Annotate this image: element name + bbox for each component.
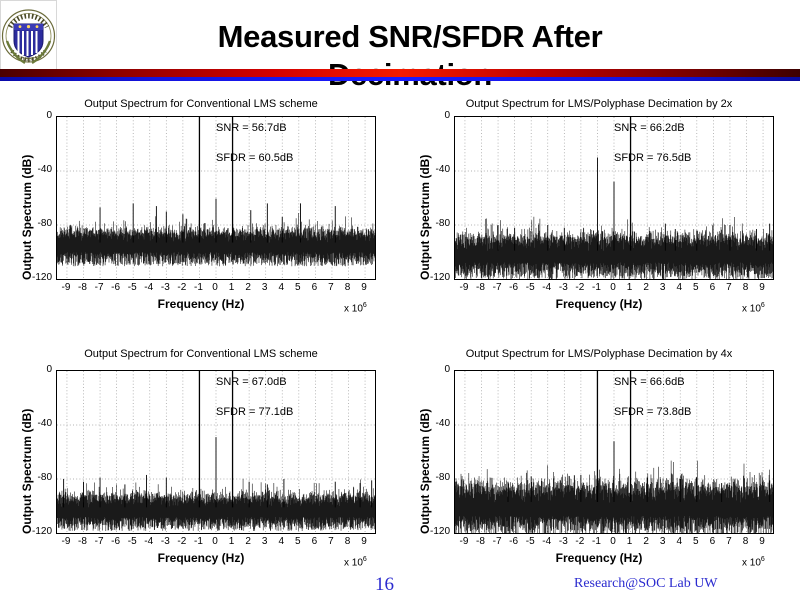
x-axis-tick: -7 [92, 536, 106, 547]
plot-area [454, 370, 774, 534]
chart-top-left: Output Spectrum for Conventional LMS sch… [8, 98, 394, 326]
x-axis-tick: -3 [158, 536, 172, 547]
x-axis-tick: 8 [341, 282, 355, 293]
x-axis-tick: 7 [324, 536, 338, 547]
y-axis-tick: -40 [8, 164, 52, 175]
x-axis-tick: -1 [589, 282, 603, 293]
footer-credit: Research@SOC Lab UW [574, 576, 718, 592]
x-axis-tick: 0 [606, 536, 620, 547]
x-axis-tick: -3 [556, 282, 570, 293]
x-axis-tick: 3 [258, 536, 272, 547]
x-axis-tick: -3 [158, 282, 172, 293]
y-axis-tick: 0 [406, 110, 450, 121]
x-axis-tick: -6 [109, 282, 123, 293]
x-axis-tick: 4 [274, 536, 288, 547]
x-axis-tick: 2 [241, 536, 255, 547]
annotation-sfdr: SFDR = 60.5dB [216, 152, 293, 164]
x-axis-tick: 0 [208, 282, 222, 293]
x-axis-tick: -8 [76, 536, 90, 547]
y-axis-tick: 0 [406, 364, 450, 375]
x-axis-exponent: x 106 [344, 556, 367, 568]
x-axis-tick: 4 [672, 536, 686, 547]
x-axis-exponent: x 106 [344, 302, 367, 314]
x-axis-tick: -2 [573, 536, 587, 547]
x-axis-tick: -9 [457, 282, 471, 293]
x-axis-tick: 5 [689, 536, 703, 547]
x-axis-tick: 1 [623, 536, 637, 547]
annotation-sfdr: SFDR = 76.5dB [614, 152, 691, 164]
x-axis-tick: -7 [92, 282, 106, 293]
x-axis-tick: 3 [656, 536, 670, 547]
x-axis-exponent: x 106 [742, 302, 765, 314]
x-axis-tick: -1 [191, 536, 205, 547]
x-axis-tick: -4 [142, 282, 156, 293]
x-axis-tick: 9 [755, 536, 769, 547]
y-axis-tick: -40 [406, 418, 450, 429]
x-axis-tick: 6 [705, 536, 719, 547]
x-axis-tick: 6 [705, 282, 719, 293]
y-axis-tick: -80 [8, 218, 52, 229]
plot-area [56, 116, 376, 280]
y-axis-tick: 0 [8, 110, 52, 121]
x-axis-tick: 3 [258, 282, 272, 293]
x-axis-exponent: x 106 [742, 556, 765, 568]
x-axis-tick: 0 [606, 282, 620, 293]
plot-area [454, 116, 774, 280]
x-axis-label: Frequency (Hz) [8, 551, 394, 565]
x-axis-tick: 7 [722, 282, 736, 293]
x-axis-tick: -7 [490, 536, 504, 547]
annotation-snr: SNR = 56.7dB [216, 122, 287, 134]
x-axis-tick: 2 [241, 282, 255, 293]
x-axis-tick: 3 [656, 282, 670, 293]
plot-area [56, 370, 376, 534]
x-axis-tick: -9 [457, 536, 471, 547]
x-axis-tick: -8 [474, 282, 488, 293]
x-axis-tick: 8 [739, 282, 753, 293]
x-axis-tick: -7 [490, 282, 504, 293]
y-axis-tick: -120 [8, 526, 52, 537]
x-axis-tick: -8 [474, 536, 488, 547]
accent-bar-red [0, 69, 800, 77]
chart-bottom-left: Output Spectrum for Conventional LMS sch… [8, 348, 394, 583]
y-axis-tick: -80 [8, 472, 52, 483]
y-axis-tick: -120 [406, 526, 450, 537]
x-axis-tick: 7 [324, 282, 338, 293]
x-axis-tick: 9 [755, 282, 769, 293]
x-axis-tick: -2 [573, 282, 587, 293]
x-axis-tick: 2 [639, 282, 653, 293]
x-axis-tick: 5 [291, 536, 305, 547]
x-axis-tick: -6 [109, 536, 123, 547]
x-axis-tick: -6 [507, 282, 521, 293]
x-axis-tick: -5 [523, 282, 537, 293]
x-axis-tick: -5 [523, 536, 537, 547]
x-axis-tick: -4 [540, 282, 554, 293]
x-axis-tick: 8 [739, 536, 753, 547]
page-title: Measured SNR/SFDR After Decimation [150, 18, 670, 94]
x-axis-tick: -4 [540, 536, 554, 547]
y-axis-tick: 0 [8, 364, 52, 375]
x-axis-tick: 0 [208, 536, 222, 547]
chart-title: Output Spectrum for LMS/Polyphase Decima… [406, 348, 792, 360]
x-axis-tick: -5 [125, 282, 139, 293]
annotation-snr: SNR = 67.0dB [216, 376, 287, 388]
y-axis-tick: -120 [406, 272, 450, 283]
x-axis-tick: -9 [59, 282, 73, 293]
chart-title: Output Spectrum for LMS/Polyphase Decima… [406, 98, 792, 110]
x-axis-tick: 9 [357, 282, 371, 293]
annotation-snr: SNR = 66.2dB [614, 122, 685, 134]
x-axis-tick: 1 [225, 536, 239, 547]
x-axis-tick: -1 [589, 536, 603, 547]
x-axis-tick: 6 [307, 282, 321, 293]
accent-bar [0, 69, 800, 81]
x-axis-tick: 8 [341, 536, 355, 547]
x-axis-tick: 1 [225, 282, 239, 293]
x-axis-tick: 5 [689, 282, 703, 293]
x-axis-label: Frequency (Hz) [406, 297, 792, 311]
x-axis-label: Frequency (Hz) [406, 551, 792, 565]
annotation-snr: SNR = 66.6dB [614, 376, 685, 388]
y-axis-tick: -120 [8, 272, 52, 283]
chart-title: Output Spectrum for Conventional LMS sch… [8, 98, 394, 110]
y-axis-tick: -80 [406, 218, 450, 229]
x-axis-tick: -9 [59, 536, 73, 547]
x-axis-tick: 4 [672, 282, 686, 293]
x-axis-tick: 9 [357, 536, 371, 547]
uw-logo: 1861 [0, 0, 57, 72]
x-axis-tick: 1 [623, 282, 637, 293]
x-axis-label: Frequency (Hz) [8, 297, 394, 311]
x-axis-tick: 5 [291, 282, 305, 293]
slide-header: 1861 Measured SNR/SFDR After Decimation [0, 0, 800, 95]
x-axis-tick: 6 [307, 536, 321, 547]
x-axis-tick: -6 [507, 536, 521, 547]
annotation-sfdr: SFDR = 77.1dB [216, 406, 293, 418]
y-axis-tick: -80 [406, 472, 450, 483]
x-axis-tick: 7 [722, 536, 736, 547]
x-axis-tick: -3 [556, 536, 570, 547]
x-axis-tick: -5 [125, 536, 139, 547]
x-axis-tick: -4 [142, 536, 156, 547]
x-axis-tick: 4 [274, 282, 288, 293]
x-axis-tick: -2 [175, 282, 189, 293]
x-axis-tick: 2 [639, 536, 653, 547]
y-axis-tick: -40 [406, 164, 450, 175]
page-title-line1: Measured SNR/SFDR After [150, 18, 670, 56]
x-axis-tick: -2 [175, 536, 189, 547]
chart-title: Output Spectrum for Conventional LMS sch… [8, 348, 394, 360]
uw-seal-icon: 1861 [1, 1, 56, 71]
x-axis-tick: -1 [191, 282, 205, 293]
annotation-sfdr: SFDR = 73.8dB [614, 406, 691, 418]
chart-bottom-right: Output Spectrum for LMS/Polyphase Decima… [406, 348, 792, 583]
chart-top-right: Output Spectrum for LMS/Polyphase Decima… [406, 98, 792, 326]
y-axis-tick: -40 [8, 418, 52, 429]
page-number: 16 [375, 574, 394, 596]
x-axis-tick: -8 [76, 282, 90, 293]
accent-bar-blue [0, 77, 800, 81]
